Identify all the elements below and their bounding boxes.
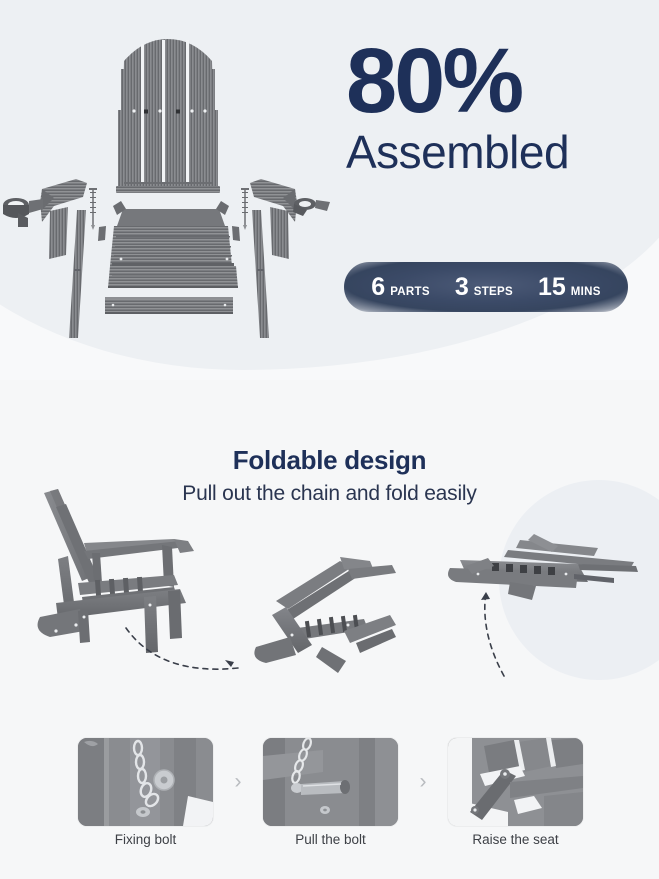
- step-separator-chevron: ›: [235, 770, 242, 794]
- cup-holder: [3, 198, 43, 227]
- chair-partially-folded: [252, 555, 412, 695]
- thumb-pull-the-bolt: [263, 738, 398, 826]
- left-front-leg: [49, 207, 68, 259]
- bolt-hardware: [293, 198, 330, 216]
- stat-parts-number: 6: [371, 275, 385, 300]
- step-separator-chevron: ›: [420, 770, 427, 794]
- bolt-steps-section: ›: [0, 720, 659, 879]
- foldable-design-section: Foldable design Pull out the chain and f…: [0, 380, 659, 720]
- headline-block: 80% Assembled: [346, 38, 636, 177]
- exploded-chair-parts-diagram: [0, 14, 340, 364]
- stat-parts: 6 PARTS: [371, 275, 430, 300]
- caption-fixing-bolt: Fixing bolt: [78, 832, 213, 847]
- foldable-design-title: Foldable design: [0, 445, 659, 476]
- assembled-label: Assembled: [346, 128, 636, 176]
- caption-pull-the-bolt: Pull the bolt: [263, 832, 398, 847]
- stat-mins-number: 15: [538, 275, 566, 300]
- step-caption-row: Fixing bolt Pull the bolt Raise the seat: [78, 832, 583, 847]
- stat-steps-number: 3: [455, 275, 469, 300]
- right-front-leg: [270, 207, 289, 259]
- step-thumbnail-row: ›: [78, 738, 583, 826]
- stat-steps: 3 STEPS: [455, 275, 513, 300]
- caption-raise-the-seat: Raise the seat: [448, 832, 583, 847]
- front-stretcher-board: [105, 297, 233, 314]
- stat-mins: 15 MINS: [538, 275, 601, 300]
- thumb-raise-the-seat: [448, 738, 583, 826]
- left-side-rail: [69, 210, 86, 338]
- exploded-view-svg: [0, 14, 340, 364]
- assembly-stats-badge: 6 PARTS 3 STEPS 15 MINS: [344, 262, 628, 312]
- stat-mins-label: MINS: [571, 286, 601, 298]
- right-side-rail: [252, 210, 269, 338]
- fold-direction-arrow: [122, 622, 252, 682]
- stat-parts-label: PARTS: [390, 286, 430, 298]
- stat-steps-label: STEPS: [474, 286, 513, 298]
- assembly-highlight-section: 80% Assembled 6 PARTS 3 STEPS 15 MINS: [0, 0, 659, 380]
- seat-assembly: [108, 201, 238, 288]
- backrest-slat-panel: [116, 39, 220, 193]
- chair-folded-flat: [448, 530, 648, 610]
- thumb-fixing-bolt: [78, 738, 213, 826]
- percent-assembled-value: 80%: [346, 38, 636, 124]
